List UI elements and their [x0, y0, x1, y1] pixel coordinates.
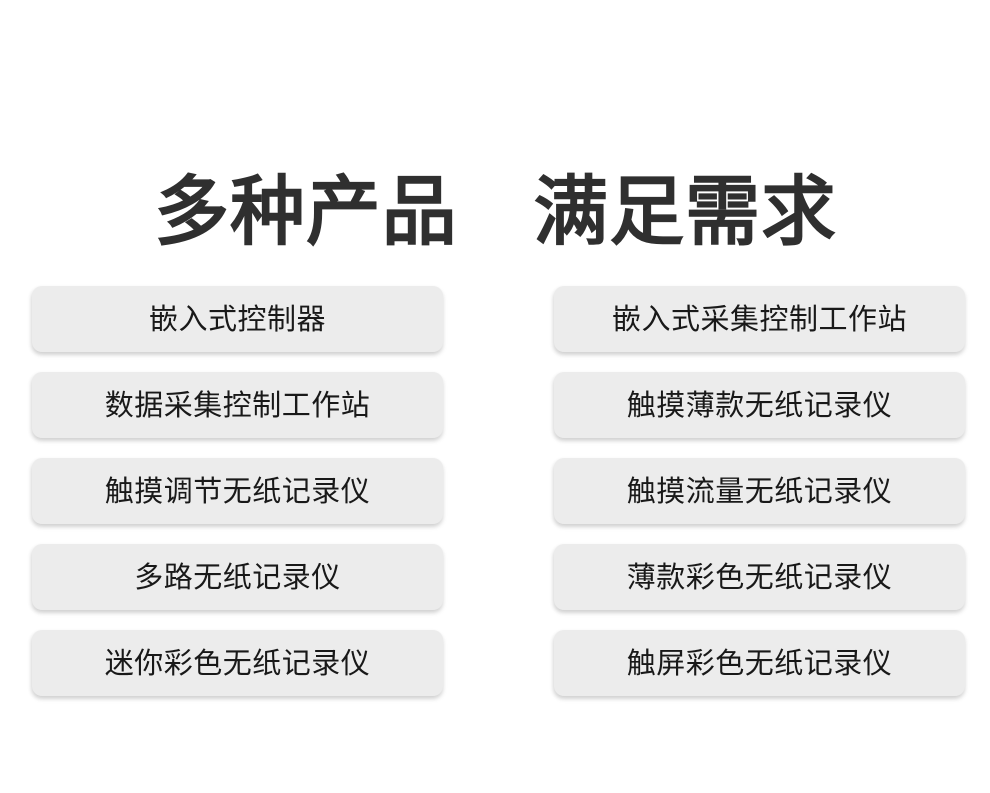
product-pill-label: 多路无纸记录仪 — [134, 563, 341, 592]
page-title: 多种产品 满足需求 — [154, 169, 837, 254]
product-pill-touch-adjusting-paperless-recorder[interactable]: 触摸调节无纸记录仪 — [32, 458, 443, 524]
product-pill-touch-flow-paperless-recorder[interactable]: 触摸流量无纸记录仪 — [554, 458, 965, 524]
product-pill-data-acquisition-control-workstation[interactable]: 数据采集控制工作站 — [32, 372, 443, 438]
product-pill-label: 触摸调节无纸记录仪 — [105, 477, 371, 506]
product-pill-label: 嵌入式采集控制工作站 — [612, 305, 907, 334]
product-pill-thin-color-paperless-recorder[interactable]: 薄款彩色无纸记录仪 — [554, 544, 965, 610]
product-pill-touch-thin-paperless-recorder[interactable]: 触摸薄款无纸记录仪 — [554, 372, 965, 438]
product-showcase-page: 多种产品 满足需求 嵌入式控制器 嵌入式采集控制工作站 数据采集控制工作站 触摸… — [0, 0, 990, 793]
product-pill-label: 触摸薄款无纸记录仪 — [627, 391, 893, 420]
product-pill-label: 触屏彩色无纸记录仪 — [627, 649, 893, 678]
page-title-container: 多种产品 满足需求 — [0, 118, 990, 305]
product-pill-embedded-acquisition-control-workstation[interactable]: 嵌入式采集控制工作站 — [554, 286, 965, 352]
product-pill-touchscreen-color-paperless-recorder[interactable]: 触屏彩色无纸记录仪 — [554, 630, 965, 696]
product-pill-mini-color-paperless-recorder[interactable]: 迷你彩色无纸记录仪 — [32, 630, 443, 696]
product-pill-label: 薄款彩色无纸记录仪 — [627, 563, 893, 592]
product-pill-embedded-controller[interactable]: 嵌入式控制器 — [32, 286, 443, 352]
product-pill-multichannel-paperless-recorder[interactable]: 多路无纸记录仪 — [32, 544, 443, 610]
product-pill-label: 触摸流量无纸记录仪 — [627, 477, 893, 506]
product-pill-label: 迷你彩色无纸记录仪 — [105, 649, 371, 678]
product-pill-label: 数据采集控制工作站 — [105, 391, 371, 420]
product-category-grid: 嵌入式控制器 嵌入式采集控制工作站 数据采集控制工作站 触摸薄款无纸记录仪 触摸… — [32, 286, 965, 696]
product-pill-label: 嵌入式控制器 — [149, 305, 326, 334]
